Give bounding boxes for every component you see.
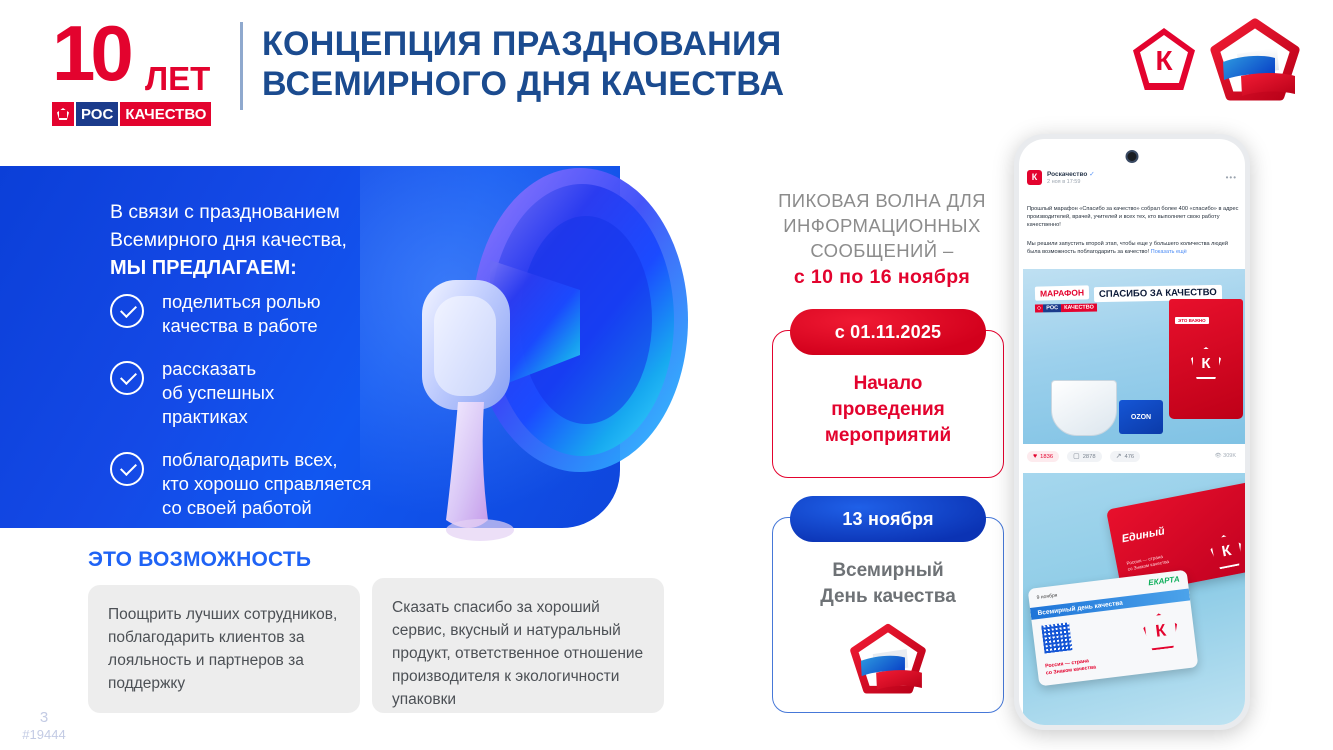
phone-mockup: К Роскачество ✓ 2 ноя в 17:59 ••• Прошлы… — [1014, 134, 1250, 730]
bullet-line: качества в работе — [162, 314, 321, 338]
heart-icon: ♥ — [1033, 453, 1037, 460]
avatar: К — [1027, 170, 1042, 185]
event-card-start: с 01.11.2025 Начало проведения мероприят… — [772, 330, 1004, 478]
event-body-line-1: Всемирный — [773, 558, 1003, 584]
event-card-body: Начало проведения мероприятий — [773, 371, 1003, 449]
opportunity-title: ЭТО ВОЗМОЖНОСТЬ — [88, 548, 311, 572]
quality-mark-pentagon-icon: К — [1142, 611, 1180, 651]
quality-mark-letter: К — [1155, 47, 1172, 75]
roskachestvo-wordmark: РОС КАЧЕСТВО — [52, 102, 211, 126]
comment-icon: ▢ — [1073, 453, 1080, 460]
view-count: 👁 309K — [1215, 453, 1236, 459]
opportunity-card: Сказать спасибо за хороший сервис, вкусн… — [372, 578, 664, 713]
event-date-badge: с 01.11.2025 — [790, 309, 986, 355]
card-title: Единый — [1121, 525, 1166, 545]
share-stat[interactable]: ↗ 476 — [1110, 451, 1141, 462]
slide-header: 10 ЛЕТ РОС КАЧЕСТВО КОНЦЕПЦИЯ ПРАЗДНОВАН… — [0, 0, 1333, 132]
bullet-line: об успешных — [162, 381, 274, 405]
transport-card-ekarta: 9 ноября ЕКАРТА Всемирный день качества … — [1028, 570, 1199, 687]
post-author: Роскачество ✓ — [1047, 170, 1095, 178]
post-author-name: Роскачество — [1047, 171, 1087, 178]
opportunity-card: Поощрить лучших сотрудников, поблагодари… — [88, 585, 360, 713]
megaphone-illustration — [330, 140, 690, 570]
post-engagement-stats: ♥ 1836 ▢ 2878 ↗ 476 — [1027, 451, 1140, 462]
check-circle-icon — [110, 361, 144, 395]
event-body-line-2: проведения — [773, 397, 1003, 423]
comment-stat[interactable]: ▢ 2878 — [1067, 451, 1102, 462]
tote-bag-product: ЭТО ВАЖНО К — [1169, 299, 1243, 419]
anniversary-logo: 10 ЛЕТ РОС КАЧЕСТВО — [52, 20, 222, 112]
check-circle-icon — [110, 294, 144, 328]
like-stat[interactable]: ♥ 1836 — [1027, 451, 1059, 462]
brand-ros: РОС — [1043, 304, 1061, 312]
bullet-text: поделиться ролью качества в работе — [162, 288, 321, 338]
document-id: #19444 — [14, 727, 74, 742]
share-count: 476 — [1124, 454, 1134, 460]
event-body-line-3: мероприятий — [773, 423, 1003, 449]
share-icon: ↗ — [1116, 453, 1122, 460]
mug-product — [1051, 380, 1117, 436]
wave-heading-line-2: ИНФОРМАЦИОННЫХ — [748, 213, 1016, 238]
qr-code-icon — [1041, 622, 1072, 653]
post-menu-icon[interactable]: ••• — [1226, 173, 1237, 182]
pentagon-mark-icon — [52, 102, 74, 126]
brand-ros: РОС — [76, 102, 118, 126]
comment-count: 2878 — [1083, 454, 1096, 460]
slide-footer: 3 #19444 — [14, 709, 74, 742]
front-camera-icon — [1126, 150, 1139, 163]
wave-heading-line-3: СООБЩЕНИЙ – — [748, 238, 1016, 263]
verified-badge-icon: ✓ — [1089, 171, 1094, 178]
post-image-transport-cards[interactable]: Единый Россия — страна со Знаком качеств… — [1023, 473, 1245, 725]
page-number: 3 — [14, 709, 74, 726]
page-title-line-1: КОНЦЕПЦИЯ ПРАЗДНОВАНИЯ — [262, 24, 982, 64]
peak-wave-heading: ПИКОВАЯ ВОЛНА ДЛЯ ИНФОРМАЦИОННЫХ СООБЩЕН… — [748, 188, 1016, 290]
anniversary-number: 10 — [52, 14, 129, 92]
bullet-line: поделиться ролью — [162, 290, 321, 314]
wave-heading-dates: с 10 по 16 ноября — [748, 265, 1016, 290]
event-date-badge: 13 ноября — [790, 496, 986, 542]
like-count: 1836 — [1040, 454, 1053, 460]
roskachestvo-wordmark-small: ◇ РОС КАЧЕСТВО — [1035, 303, 1097, 312]
event-body-line-2: День качества — [773, 584, 1003, 610]
bag-tag-label: ЭТО ВАЖНО — [1175, 317, 1209, 324]
anniversary-unit: ЛЕТ — [145, 62, 210, 95]
bullet-text: рассказать об успешных практиках — [162, 355, 274, 429]
post-image-marathon[interactable]: МАРАФОН СПАСИБО ЗА КАЧЕСТВО ◇ РОС КАЧЕСТ… — [1023, 269, 1245, 444]
pentagon-mark-icon: ◇ — [1035, 304, 1043, 312]
world-quality-day-flag-logo-icon — [849, 623, 927, 697]
quality-mark-pentagon-icon: К — [1133, 28, 1195, 90]
show-more-link[interactable]: Показать ещё — [1151, 249, 1187, 255]
ozon-box-product: OZON — [1119, 400, 1163, 434]
wave-heading-line-1: ПИКОВАЯ ВОЛНА ДЛЯ — [748, 188, 1016, 213]
card-slogan: Россия — страна со Знаком качества — [1045, 657, 1097, 677]
phone-screen: К Роскачество ✓ 2 ноя в 17:59 ••• Прошлы… — [1019, 139, 1245, 725]
view-count-value: 309K — [1223, 453, 1236, 459]
header-divider — [240, 22, 243, 110]
post-paragraph-text: Мы решили запустить второй этап, чтобы е… — [1027, 241, 1228, 255]
post-paragraph: Прошлый марафон «Спасибо за качество» со… — [1027, 205, 1243, 229]
quality-mark-pentagon-icon: К — [1208, 532, 1245, 570]
world-quality-day-flag-logo-icon — [1209, 18, 1301, 104]
post-paragraph: Мы решили запустить второй этап, чтобы е… — [1027, 240, 1243, 256]
card-subtitle: Россия — страна со Знаком качества — [1126, 553, 1169, 573]
marathon-tag: МАРАФОН — [1035, 285, 1089, 300]
check-circle-icon — [110, 452, 144, 486]
quality-mark-pentagon-icon: К — [1191, 347, 1221, 379]
event-body-line-1: Начало — [773, 371, 1003, 397]
bullet-line: практиках — [162, 405, 274, 429]
post-header: К Роскачество ✓ 2 ноя в 17:59 — [1027, 170, 1095, 185]
card-brand: ЕКАРТА — [1148, 575, 1180, 588]
brand-kachestvo: КАЧЕСТВО — [1061, 303, 1097, 312]
bullet-line: рассказать — [162, 357, 274, 381]
card-date: 9 ноября — [1036, 593, 1057, 601]
page-title: КОНЦЕПЦИЯ ПРАЗДНОВАНИЯ ВСЕМИРНОГО ДНЯ КА… — [262, 24, 982, 104]
post-timestamp: 2 ноя в 17:59 — [1047, 179, 1095, 185]
event-card-world-quality-day: 13 ноября Всемирный День качества — [772, 517, 1004, 713]
event-card-body: Всемирный День качества — [773, 558, 1003, 610]
eye-icon: 👁 — [1215, 453, 1222, 459]
brand-kachestvo: КАЧЕСТВО — [120, 102, 211, 126]
page-title-line-2: ВСЕМИРНОГО ДНЯ КАЧЕСТВА — [262, 64, 982, 104]
